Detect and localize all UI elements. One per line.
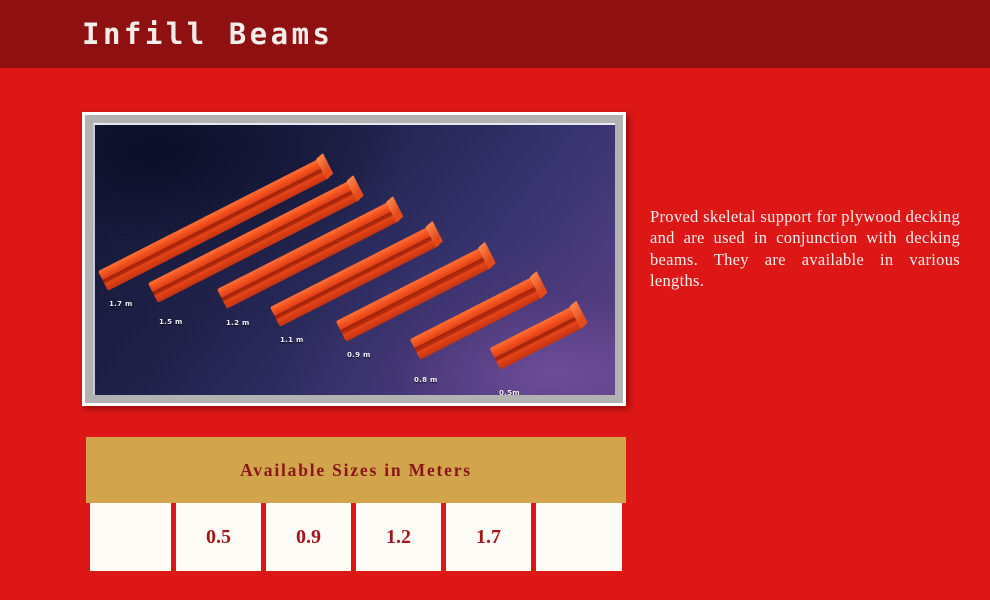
size-cell-empty-right — [536, 503, 626, 575]
table-row: 0.5 0.9 1.2 1.7 — [86, 503, 626, 575]
size-cell-0-9: 0.9 — [266, 503, 356, 575]
beam-label-4: 1.1 m — [280, 336, 304, 344]
beam-label-2: 1.5 m — [159, 318, 183, 326]
beam-label-7: 0.5m — [499, 389, 520, 395]
size-cell-1-2: 1.2 — [356, 503, 446, 575]
size-cell-0-5: 0.5 — [176, 503, 266, 575]
beam-label-6: 0.8 m — [414, 376, 438, 384]
available-sizes-header: Available Sizes in Meters — [86, 437, 626, 503]
size-cell-1-7: 1.7 — [446, 503, 536, 575]
product-photo-frame: 1.7 m 1.5 m 1.2 m 1.1 m 0.9 — [82, 112, 626, 406]
available-sizes-table: Available Sizes in Meters 0.5 0.9 1.2 1.… — [86, 437, 626, 575]
table-header-row: Available Sizes in Meters — [86, 437, 626, 503]
beam-label-3: 1.2 m — [226, 319, 250, 327]
page-title: Infill Beams — [82, 16, 334, 52]
beam-label-1: 1.7 m — [109, 300, 133, 308]
product-photo: 1.7 m 1.5 m 1.2 m 1.1 m 0.9 — [93, 123, 615, 395]
product-description: Proved skeletal support for plywood deck… — [650, 206, 960, 292]
page-header: Infill Beams — [0, 0, 990, 68]
size-cell-empty-left — [86, 503, 176, 575]
beam-label-5: 0.9 m — [347, 351, 371, 359]
